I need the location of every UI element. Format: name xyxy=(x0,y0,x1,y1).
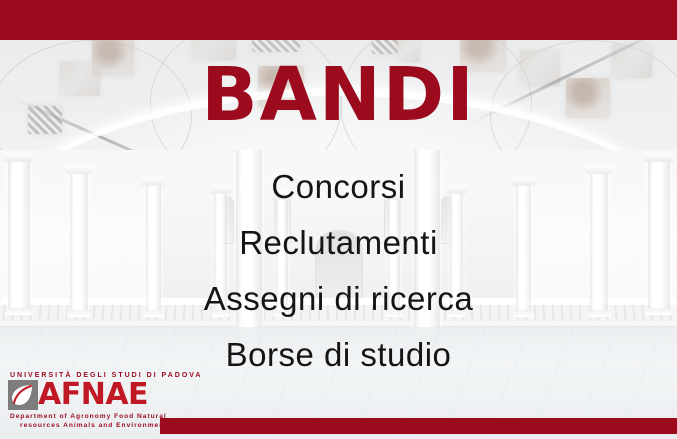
logo-acronym: AFNAE xyxy=(38,380,148,410)
logo-department-line-2: resources Animals and Environment xyxy=(20,421,172,430)
headline-line-assegni: Assegni di ricerca xyxy=(0,282,677,315)
poster: BANDI Concorsi Reclutamenti Assegni di r… xyxy=(0,0,677,439)
top-red-bar xyxy=(0,0,677,40)
headline-block: BANDI Concorsi Reclutamenti Assegni di r… xyxy=(0,58,677,371)
leaf-icon xyxy=(8,380,38,410)
dafnae-logo: UNIVERSITÀ DEGLI STUDI DI PADOVA AFNAE D… xyxy=(8,372,172,430)
logo-wordmark: AFNAE xyxy=(8,380,172,410)
headline-line-borse: Borse di studio xyxy=(0,338,677,371)
headline-line-concorsi: Concorsi xyxy=(0,170,677,203)
logo-department-line-1: Department of Agronomy Food Natural xyxy=(10,412,172,421)
headline-line-reclutamenti: Reclutamenti xyxy=(0,226,677,259)
bottom-red-bar xyxy=(160,418,677,434)
logo-department: Department of Agronomy Food Natural reso… xyxy=(8,412,172,430)
headline-list: Concorsi Reclutamenti Assegni di ricerca… xyxy=(0,170,677,371)
page-title: BANDI xyxy=(0,58,677,132)
